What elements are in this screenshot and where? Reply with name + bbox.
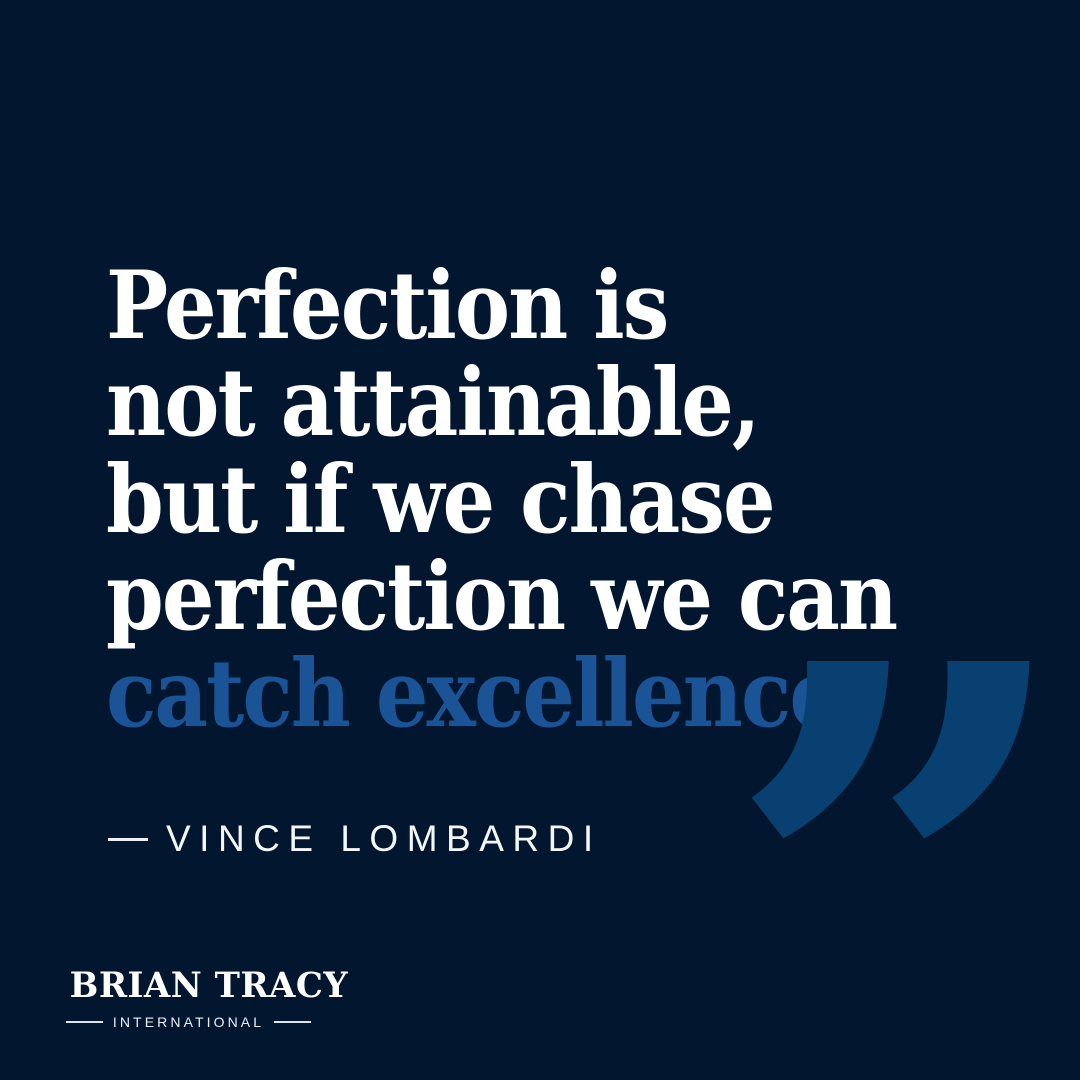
brand-logo: BRIAN TRACY INTERNATIONAL bbox=[66, 968, 311, 1030]
em-dash-rule bbox=[108, 838, 148, 841]
quote-line-1: Perfection is bbox=[106, 258, 863, 355]
logo-subtitle-row: INTERNATIONAL bbox=[66, 1014, 311, 1030]
attribution: VINCE LOMBARDI bbox=[108, 818, 602, 860]
closing-quote-icon: ” bbox=[722, 586, 1079, 1080]
logo-rule-left bbox=[66, 1021, 103, 1023]
quote-graphic-canvas: “ Perfection is not attainable, but if w… bbox=[0, 0, 1080, 1080]
logo-rule-right bbox=[274, 1021, 311, 1023]
logo-wordmark: BRIAN TRACY bbox=[70, 968, 308, 1005]
quote-line-2: not attainable, bbox=[106, 355, 863, 452]
attribution-author-name: VINCE LOMBARDI bbox=[166, 818, 602, 860]
logo-subtitle: INTERNATIONAL bbox=[113, 1014, 264, 1030]
